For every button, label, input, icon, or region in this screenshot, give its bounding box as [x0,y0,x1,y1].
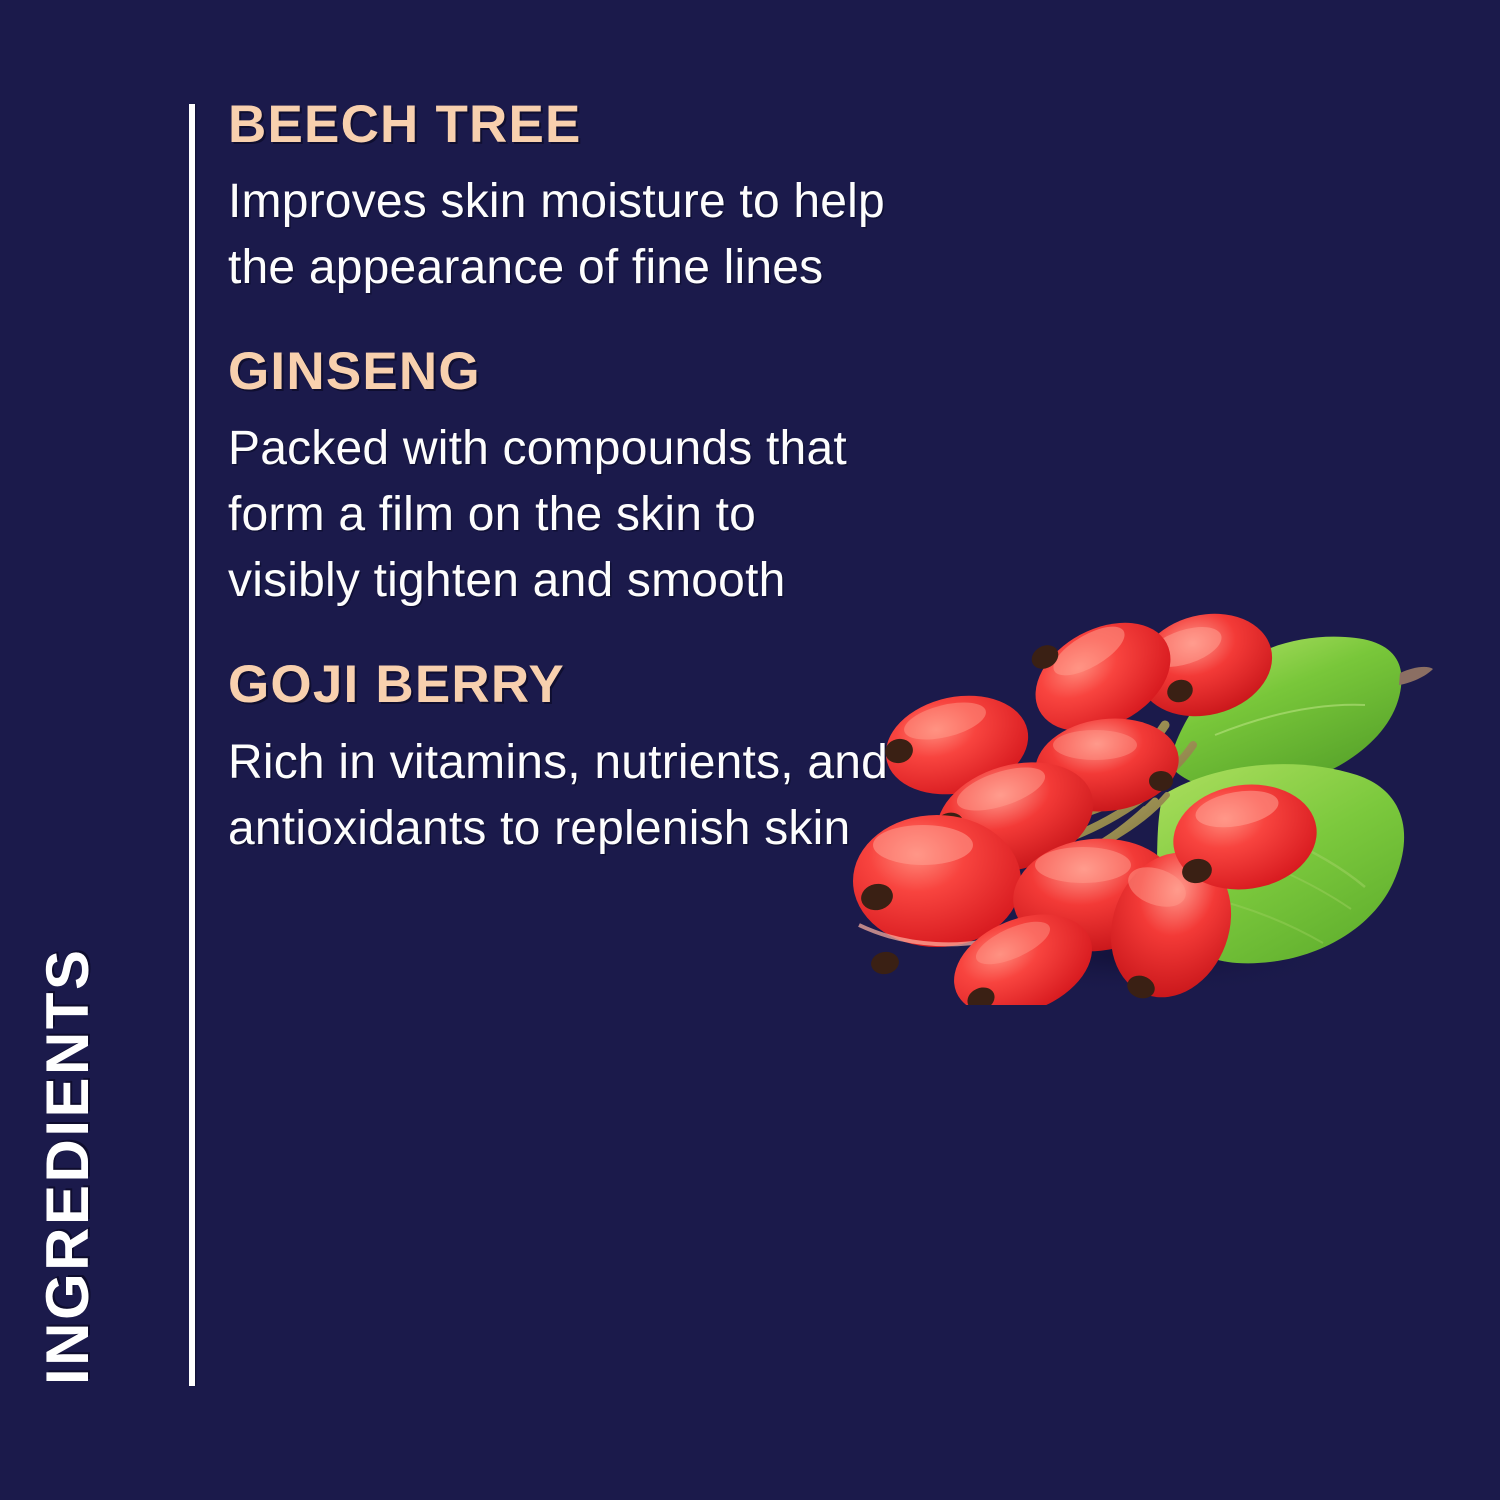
ingredients-vertical-label: INGREDIENTS [38,947,98,1385]
ingredient-title: BEECH TREE [228,96,928,153]
ingredient-description: Packed with compounds that form a film o… [228,416,888,614]
berry-illustration [845,595,1435,1005]
ingredient-item-beech-tree: BEECH TREE Improves skin moisture to hel… [228,96,928,301]
ingredient-description: Improves skin moisture to help the appea… [228,169,908,301]
vertical-divider-rule [189,104,195,1386]
ingredient-title: GOJI BERRY [228,656,928,713]
ingredient-description: Rich in vitamins, nutrients, and antioxi… [228,730,908,862]
ingredient-item-ginseng: GINSENG Packed with compounds that form … [228,343,928,614]
goji-berry-cluster-photo [845,595,1435,1005]
ingredient-title: GINSENG [228,343,928,400]
vertical-label-container: INGREDIENTS [0,0,200,1500]
ingredients-list: BEECH TREE Improves skin moisture to hel… [228,96,928,862]
ingredients-poster: INGREDIENTS BEECH TREE Improves skin moi… [0,0,1500,1500]
ingredient-item-goji-berry: GOJI BERRY Rich in vitamins, nutrients, … [228,656,928,861]
